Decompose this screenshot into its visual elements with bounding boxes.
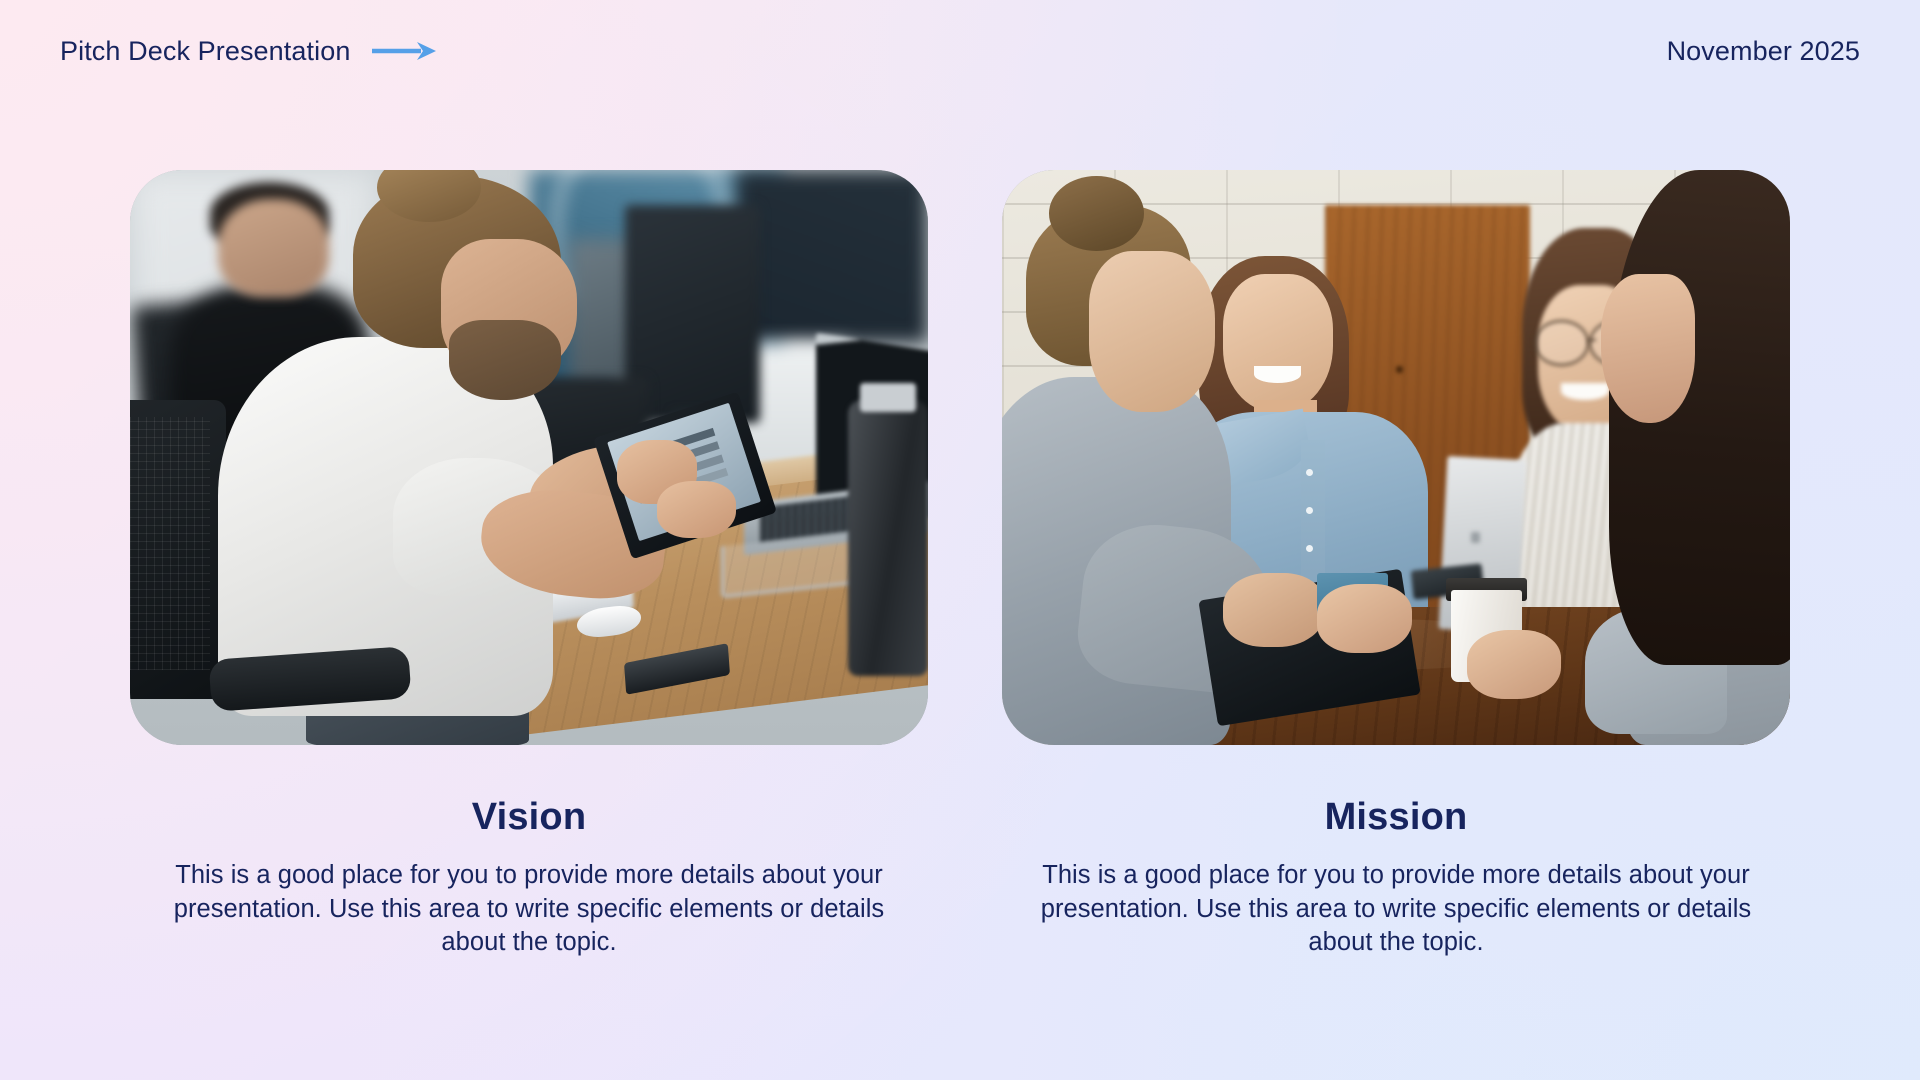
mission-title: Mission (1002, 798, 1790, 836)
mission-photo (1002, 170, 1790, 745)
vision-caption: Vision This is a good place for you to p… (130, 798, 928, 960)
slide-header: Pitch Deck Presentation November 2025 (0, 0, 1920, 96)
slide-date: November 2025 (1667, 36, 1860, 67)
vision-body: This is a good place for you to provide … (130, 859, 928, 960)
vision-title: Vision (130, 798, 928, 836)
deck-title: Pitch Deck Presentation (60, 36, 350, 67)
slide-canvas: Pitch Deck Presentation November 2025 (0, 0, 1920, 1080)
arrow-right-icon (371, 40, 438, 62)
column-vision: Vision This is a good place for you to p… (130, 170, 928, 960)
mission-body: This is a good place for you to provide … (1002, 859, 1790, 960)
column-mission: Mission This is a good place for you to … (1002, 170, 1790, 960)
vision-photo (130, 170, 928, 745)
mission-caption: Mission This is a good place for you to … (1002, 798, 1790, 960)
